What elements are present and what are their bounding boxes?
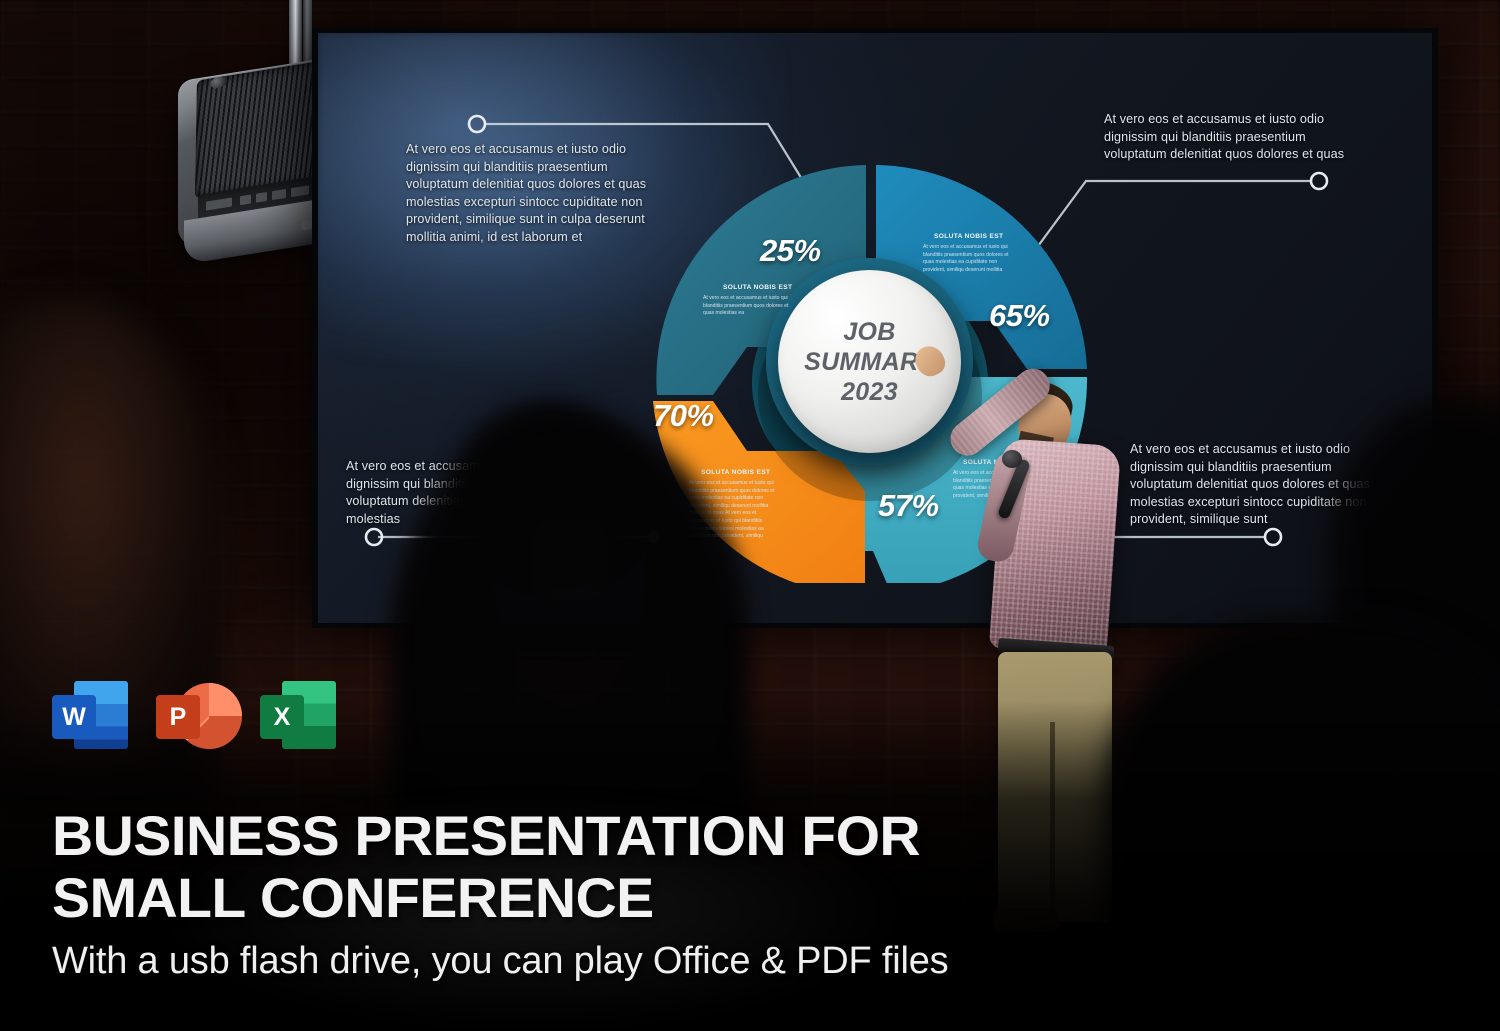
projector-port-usb-b bbox=[256, 192, 267, 203]
word-icon: W bbox=[52, 681, 128, 753]
segment-heading-65: SOLUTA NOBIS EST bbox=[934, 233, 1003, 240]
powerpoint-icon: P bbox=[156, 681, 232, 753]
hub-title-line-1: JOB bbox=[843, 317, 895, 347]
projector-port-av bbox=[272, 189, 286, 200]
marketing-subline: With a usb flash drive, you can play Off… bbox=[52, 938, 1152, 984]
marketing-headline: BUSINESS PRESENTATION FOR SMALL CONFEREN… bbox=[52, 805, 1092, 929]
callout-text-bottom-right: At vero eos et accusamus et iusto odio d… bbox=[1130, 441, 1382, 529]
presentation-photo: JOB SUMMARY 2023 25% 65% 57% 70% SOLUTA … bbox=[0, 0, 1500, 1031]
callout-text-bottom-left: At vero eos et accusamus et iusto odio d… bbox=[346, 458, 596, 528]
callout-text-top-right: At vero eos et accusamus et iusto odio d… bbox=[1104, 111, 1350, 164]
projector-port-hdmi bbox=[206, 197, 232, 210]
segment-heading-70: SOLUTA NOBIS EST bbox=[701, 469, 770, 476]
segment-label-70: 70% bbox=[653, 398, 714, 434]
projection-screen: JOB SUMMARY 2023 25% 65% 57% 70% SOLUTA … bbox=[318, 33, 1432, 623]
segment-body-25: At vero eos et accusamus et iusto qui bl… bbox=[703, 295, 795, 318]
segment-body-65: At vero eos et accusamus et iusto qui bl… bbox=[923, 244, 1015, 274]
callout-text-top-left: At vero eos et accusamus et iusto odio d… bbox=[406, 141, 652, 246]
segment-label-25: 25% bbox=[760, 233, 821, 269]
projector-port-vga bbox=[291, 185, 309, 197]
word-icon-letter: W bbox=[52, 695, 96, 739]
headline-line-1: BUSINESS PRESENTATION FOR bbox=[52, 805, 1092, 867]
excel-icon-letter: X bbox=[260, 695, 304, 739]
headline-line-2: SMALL CONFERENCE bbox=[52, 867, 1092, 929]
segment-label-65: 65% bbox=[989, 298, 1050, 334]
powerpoint-icon-letter: P bbox=[156, 695, 200, 739]
excel-icon: X bbox=[260, 681, 336, 753]
office-format-icons: W P X bbox=[52, 681, 336, 753]
hub-title-line-3: 2023 bbox=[841, 377, 898, 407]
microphone-head bbox=[1002, 450, 1022, 468]
segment-body-70: At vero eos et accusamus et iusto qui bl… bbox=[689, 480, 781, 541]
powerpoint-icon-quadrant-top bbox=[209, 683, 242, 716]
segment-heading-25: SOLUTA NOBIS EST bbox=[723, 284, 792, 291]
projector-port-usb-a bbox=[240, 194, 251, 205]
segment-label-57: 57% bbox=[878, 488, 939, 524]
powerpoint-icon-quadrant-bottom bbox=[209, 716, 242, 749]
